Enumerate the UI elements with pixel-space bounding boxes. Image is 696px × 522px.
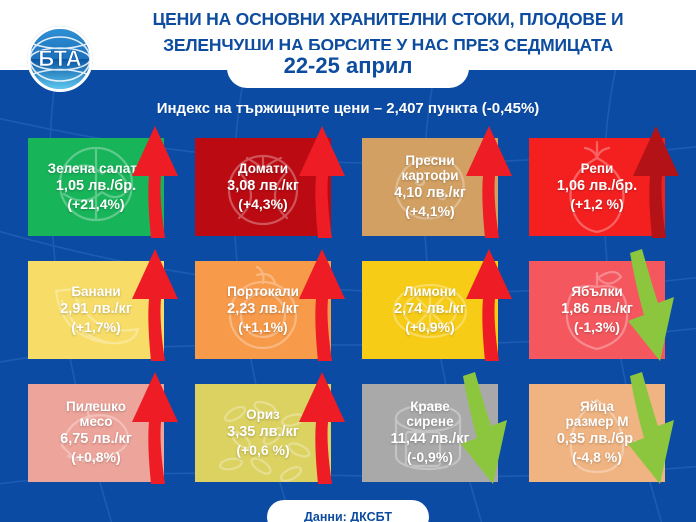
- price-card-price: 4,10 лв./кг: [394, 184, 466, 202]
- arrow-down-icon: [459, 372, 517, 484]
- price-trend-arrow: [459, 372, 517, 484]
- price-card-change: (+0,8%): [71, 448, 120, 466]
- price-card-product-name: Краве: [410, 400, 450, 415]
- price-card-cell: Портокали2,23 лв./кг(+1,1%): [187, 251, 354, 371]
- price-card-cell: Ябълки1,86 лв./кг(-1,3%): [521, 251, 688, 371]
- price-card-change: (-4,8 %): [572, 448, 622, 466]
- price-card-product-name-line2: картофи: [401, 169, 458, 184]
- arrow-up-icon: [125, 249, 181, 361]
- price-card-change: (+21,4%): [67, 195, 124, 213]
- price-trend-arrow: [125, 126, 181, 238]
- price-trend-arrow: [626, 126, 682, 238]
- svg-text:БТА: БТА: [38, 46, 81, 71]
- price-trend-arrow: [292, 126, 348, 238]
- price-card-product-name: Лимони: [404, 284, 456, 299]
- infographic-root: ЦЕНИ НА ОСНОВНИ ХРАНИТЕЛНИ СТОКИ, ПЛОДОВ…: [0, 0, 696, 522]
- price-card-product-name: Пресни: [405, 154, 454, 169]
- price-card-cell: Ориз3,35 лв./кг(+0,6 %): [187, 374, 354, 494]
- price-trend-arrow: [459, 249, 515, 361]
- price-card-product-name: Репи: [581, 161, 614, 176]
- price-card-product-name: Яйца: [580, 400, 614, 415]
- price-card-cell: Пилешкомесо6,75 лв./кг(+0,8%): [20, 374, 187, 494]
- price-trend-arrow: [125, 249, 181, 361]
- price-card-price: 2,74 лв./кг: [394, 300, 466, 318]
- price-card-product-name: Банани: [71, 284, 120, 299]
- price-card-price: 6,75 лв./кг: [60, 430, 132, 448]
- arrow-down-icon: [626, 249, 684, 361]
- price-trend-arrow: [626, 372, 684, 484]
- price-card-change: (+4,3%): [238, 195, 287, 213]
- price-card-price: 2,23 лв./кг: [227, 300, 299, 318]
- price-trend-arrow: [292, 372, 348, 484]
- price-card-product-name-line2: сирене: [406, 415, 453, 430]
- price-card-product-name: Ориз: [246, 407, 280, 422]
- arrow-up-icon: [459, 249, 515, 361]
- date-range-pill: 22-25 април: [227, 50, 469, 88]
- price-card-cell: Репи1,06 лв./бр.(+1,2 %): [521, 128, 688, 248]
- price-trend-arrow: [626, 249, 684, 361]
- price-card-change: (-1,3%): [574, 318, 620, 336]
- page-title-line-1: ЦЕНИ НА ОСНОВНИ ХРАНИТЕЛНИ СТОКИ, ПЛОДОВ…: [88, 6, 688, 32]
- price-card-cell: Домати3,08 лв./кг(+4,3%): [187, 128, 354, 248]
- price-card-product-name: Портокали: [227, 284, 299, 299]
- arrow-down-icon: [626, 372, 684, 484]
- price-card-change: (+1,7%): [71, 318, 120, 336]
- price-card-grid: Зелена салата1,05 лв./бр.(+21,4%)Домати3…: [0, 128, 696, 498]
- price-card-change: (+0,6 %): [236, 441, 289, 459]
- price-card-change: (+0,9%): [405, 318, 454, 336]
- bta-logo-globe-icon: БТА: [18, 24, 102, 94]
- price-card-price: 11,44 лв./кг: [391, 430, 470, 448]
- price-card-cell: Банани2,91 лв./кг(+1,7%): [20, 251, 187, 371]
- price-card-cell: Яйцаразмер М0,35 лв./бр.(-4,8 %): [521, 374, 688, 494]
- price-trend-arrow: [292, 249, 348, 361]
- arrow-up-icon: [292, 126, 348, 238]
- bta-logo: БТА: [18, 24, 102, 94]
- price-card-product-name: Пилешко: [66, 400, 126, 415]
- price-card-cell: Кравесирене11,44 лв./кг(-0,9%): [354, 374, 521, 494]
- data-source-label: Данни: ДКСБТ: [304, 510, 392, 522]
- price-card-product-name-line2: размер М: [565, 415, 628, 430]
- price-card-cell: Пресникартофи4,10 лв./кг(+4,1%): [354, 128, 521, 248]
- price-card-product-name: Ябълки: [571, 284, 622, 299]
- price-card-change: (-0,9%): [407, 448, 453, 466]
- arrow-up-icon: [125, 126, 181, 238]
- date-range-label: 22-25 април: [284, 53, 413, 79]
- price-card-change: (+1,1%): [238, 318, 287, 336]
- price-card-cell: Зелена салата1,05 лв./бр.(+21,4%): [20, 128, 187, 248]
- price-card-change: (+1,2 %): [570, 195, 623, 213]
- arrow-up-icon: [292, 372, 348, 484]
- price-card-price: 2,91 лв./кг: [60, 300, 132, 318]
- price-card-product-name-line2: месо: [79, 415, 112, 430]
- arrow-up-icon: [626, 126, 682, 238]
- arrow-up-icon: [459, 126, 515, 238]
- price-card-change: (+4,1%): [405, 202, 454, 220]
- price-trend-arrow: [125, 372, 181, 484]
- data-source-pill: Данни: ДКСБТ: [267, 500, 429, 522]
- price-card-cell: Лимони2,74 лв./кг(+0,9%): [354, 251, 521, 371]
- arrow-up-icon: [125, 372, 181, 484]
- arrow-up-icon: [292, 249, 348, 361]
- price-card-product-name: Домати: [238, 161, 288, 176]
- price-card-price: 3,35 лв./кг: [227, 423, 299, 441]
- price-trend-arrow: [459, 126, 515, 238]
- price-card-price: 3,08 лв./кг: [227, 177, 299, 195]
- price-card-price: 1,86 лв./кг: [561, 300, 633, 318]
- market-index-label: Индекс на тържищните цени – 2,407 пункта…: [0, 100, 696, 117]
